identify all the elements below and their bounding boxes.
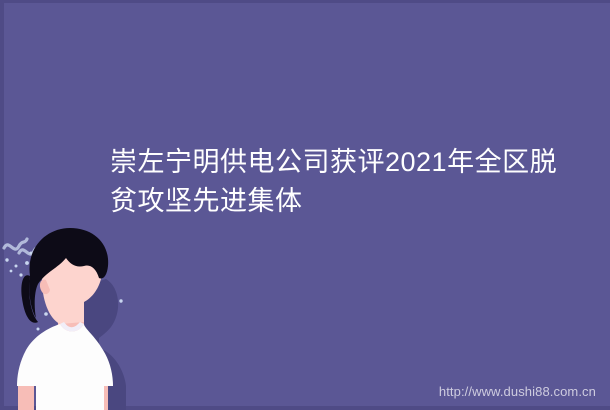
article-cover-card: 崇左宁明供电公司获评2021年全区脱贫攻坚先进集体 bbox=[0, 0, 610, 410]
page-title: 崇左宁明供电公司获评2021年全区脱贫攻坚先进集体 bbox=[110, 143, 580, 221]
person-profile-illustration bbox=[0, 222, 180, 410]
watermark-url: http://www.dushi88.com.cn bbox=[439, 384, 596, 399]
top-edge-strip bbox=[0, 0, 610, 3]
